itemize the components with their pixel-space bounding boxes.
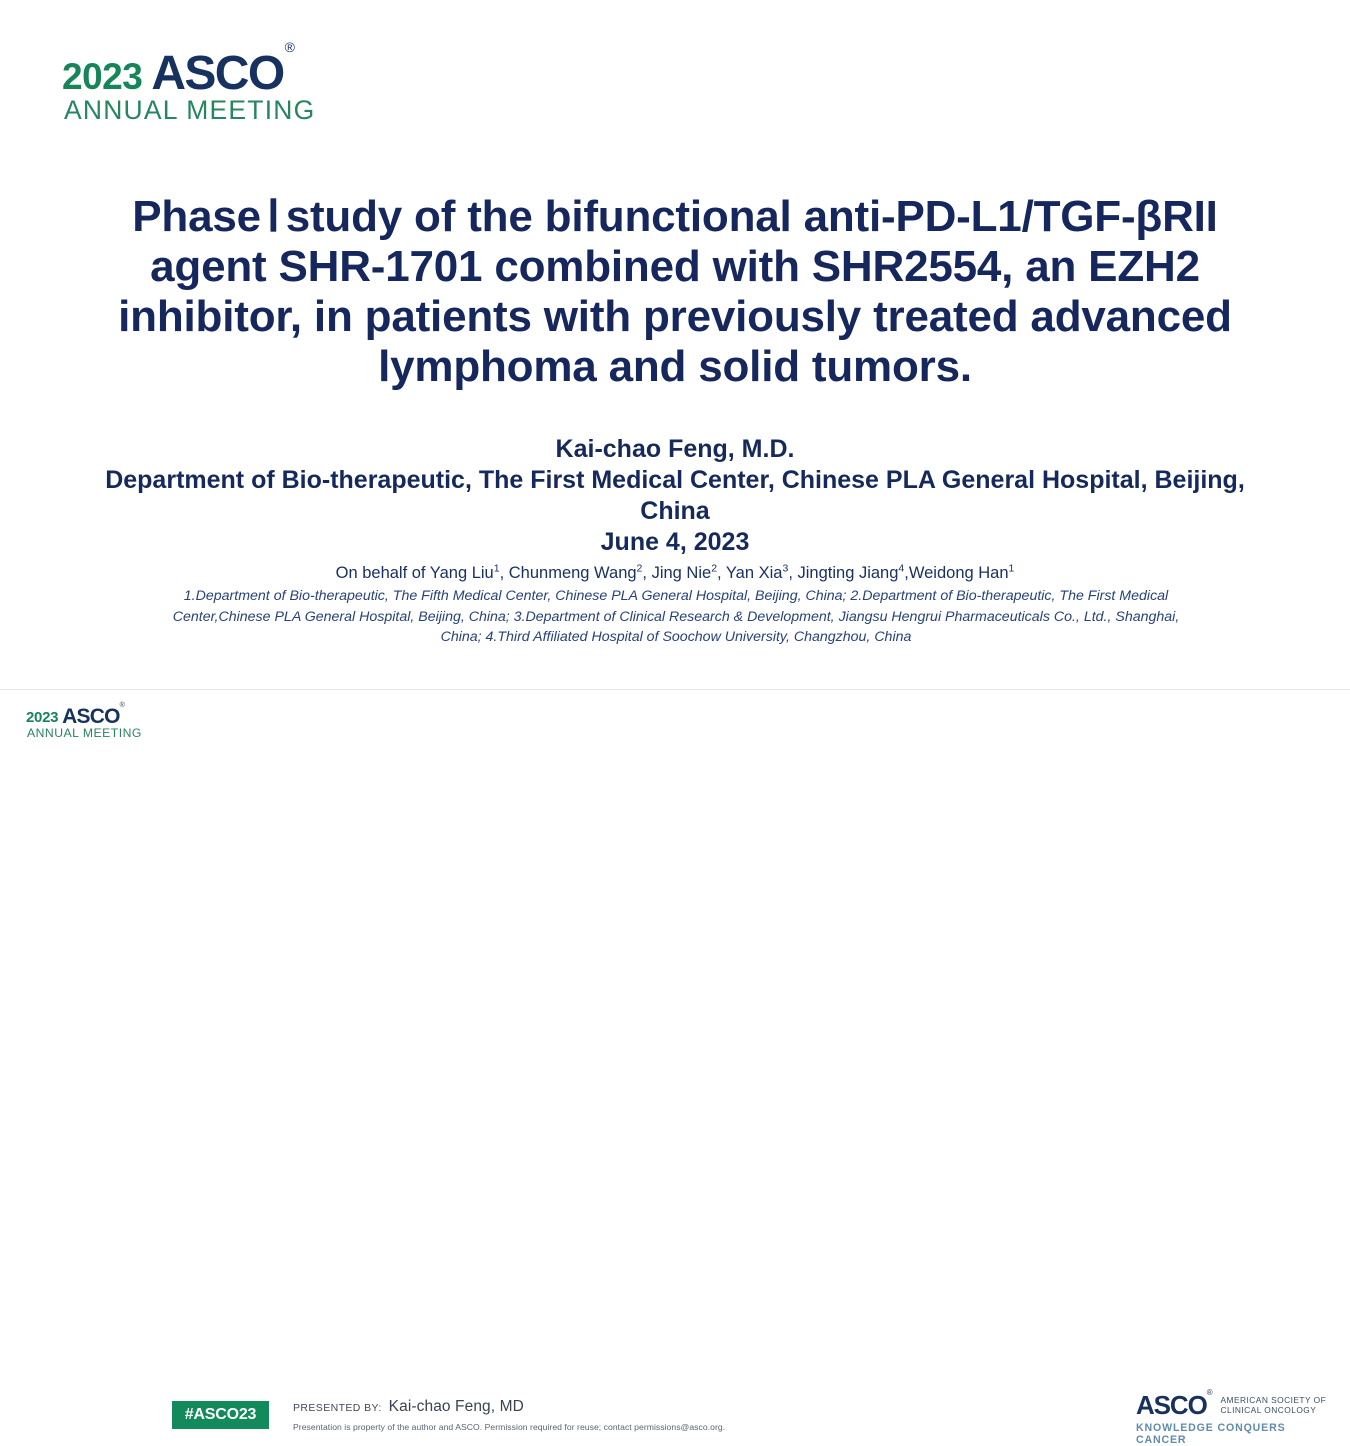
author-name: On behalf of Yang Liu (336, 564, 494, 582)
authors-line: On behalf of Yang Liu1, Chunmeng Wang2, … (75, 562, 1275, 584)
title-line4: lymphoma and solid tumors. (378, 342, 972, 391)
presented-by-block: PRESENTED BY: Kai-chao Feng, MD Presenta… (293, 1398, 725, 1432)
footer-logo-wordmark: ASCO® (62, 707, 124, 726)
footer-registered-trademark-icon: ® (120, 702, 124, 709)
society-logo-wordmark: ASCO® (1136, 1392, 1212, 1418)
author-separator: , (788, 564, 797, 582)
affiliation-line-2: Center,Chinese PLA General Hospital, Bei… (70, 607, 1282, 628)
author-name: Weidong Han (909, 564, 1009, 582)
footer-asco-annual-meeting-logo: 2023 ASCO® ANNUAL MEETING (26, 707, 142, 741)
permission-note: Presentation is property of the author a… (293, 1422, 725, 1432)
hashtag-badge: #ASCO23 (172, 1401, 269, 1429)
footer-logo-subtitle: ANNUAL MEETING (26, 727, 142, 740)
society-slogan: KNOWLEDGE CONQUERS CANCER (1136, 1422, 1336, 1446)
society-tagline-line2: CLINICAL ONCOLOGY (1221, 1405, 1317, 1415)
presented-by-row: PRESENTED BY: Kai-chao Feng, MD (293, 1398, 725, 1416)
logo-subtitle: ANNUAL MEETING (62, 97, 332, 125)
slide-footer: 2023 ASCO® ANNUAL MEETING #ASCO23 PRESEN… (0, 690, 1350, 760)
author-separator: , (642, 564, 651, 582)
asco-society-logo: ASCO® AMERICAN SOCIETY OF CLINICAL ONCOL… (1136, 1392, 1336, 1446)
author-affiliation-marker: 1 (1009, 563, 1015, 575)
asco-annual-meeting-logo: 2023 ASCO® ANNUAL MEETING (62, 52, 332, 125)
society-tagline: AMERICAN SOCIETY OF CLINICAL ONCOLOGY (1221, 1395, 1327, 1416)
registered-trademark-icon: ® (285, 39, 294, 55)
logo-primary-row: 2023 ASCO® (62, 52, 332, 96)
title-line1-part-b: study of the bifunctional anti-PD-L1/TGF… (286, 192, 1218, 241)
logo-wordmark-text: ASCO (151, 47, 283, 100)
footer-logo-primary-row: 2023 ASCO® (26, 707, 142, 726)
title-line3: inhibitor, in patients with previously t… (118, 292, 1232, 341)
affiliation-line-1: 1.Department of Bio-therapeutic, The Fif… (70, 586, 1282, 607)
affiliations-block: 1.Department of Bio-therapeutic, The Fif… (70, 586, 1282, 648)
logo-wordmark: ASCO® (151, 52, 292, 96)
page-title: PhaseⅠstudy of the bifunctional anti-PD-… (95, 192, 1255, 392)
society-logo-row: ASCO® AMERICAN SOCIETY OF CLINICAL ONCOL… (1136, 1392, 1336, 1418)
affiliation-line-3: China; 4.Third Affiliated Hospital of So… (70, 627, 1282, 648)
presenter-name: Kai-chao Feng, M.D. (75, 434, 1275, 465)
author-name: Chunmeng Wang (509, 564, 637, 582)
author-separator: , (500, 564, 509, 582)
footer-logo-wordmark-text: ASCO (62, 705, 119, 728)
footer-logo-year: 2023 (26, 710, 58, 725)
author-name: Jing Nie (652, 564, 712, 582)
logo-year: 2023 (62, 58, 142, 95)
presenter-affiliation: Department of Bio-therapeutic, The First… (75, 465, 1275, 527)
presentation-date: June 4, 2023 (75, 527, 1275, 558)
presented-by-name: Kai-chao Feng, MD (389, 1398, 524, 1416)
author-name: Yan Xia (726, 564, 783, 582)
title-roman-numeral: Ⅰ (261, 192, 286, 241)
author-separator: , (717, 564, 726, 582)
society-tagline-line1: AMERICAN SOCIETY OF (1221, 1395, 1327, 1405)
society-registered-trademark-icon: ® (1207, 1388, 1212, 1397)
title-line2: agent SHR-1701 combined with SHR2554, an… (150, 242, 1200, 291)
author-name: Jingting Jiang (798, 564, 899, 582)
presented-by-label: PRESENTED BY: (293, 1402, 382, 1414)
presenter-block: Kai-chao Feng, M.D. Department of Bio-th… (75, 434, 1275, 558)
title-line1-part-a: Phase (132, 192, 261, 241)
society-logo-wordmark-text: ASCO (1136, 1390, 1207, 1420)
